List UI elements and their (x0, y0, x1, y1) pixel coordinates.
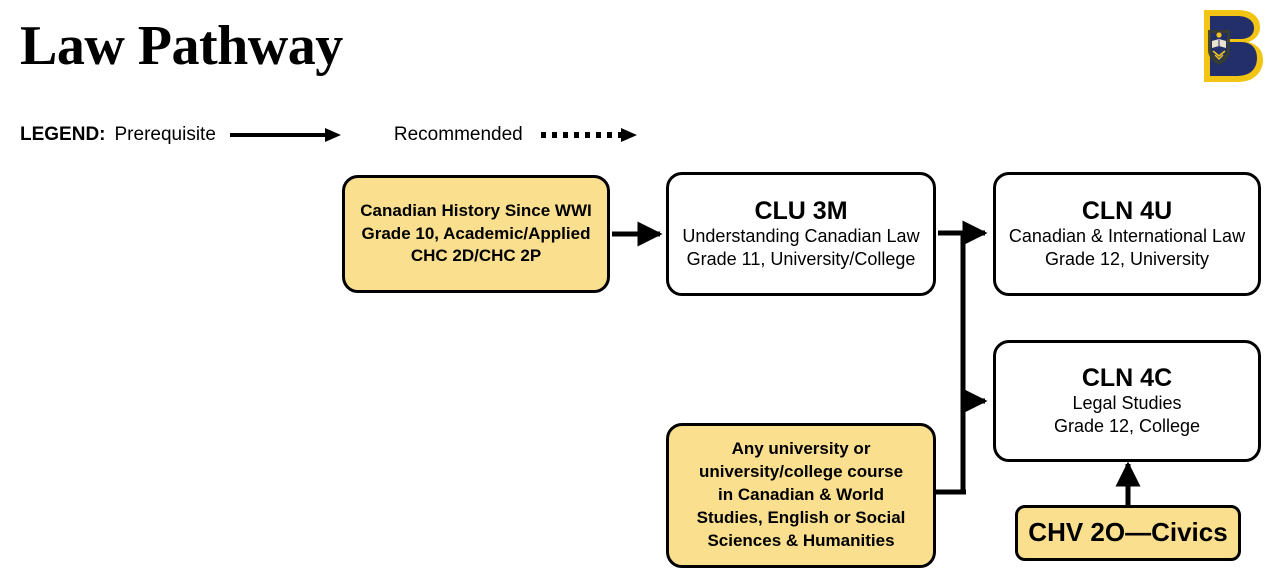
node-chc-line-3: CHC 2D/CHC 2P (411, 245, 541, 268)
law-pathway-diagram: Law Pathway LEGE (0, 0, 1275, 585)
burnaby-b-crest-logo (1194, 6, 1270, 86)
node-anycourse-line-1: Any university or (732, 438, 871, 461)
legend: LEGEND: Prerequisite Recommended (20, 122, 637, 148)
node-clu3m-code: CLU 3M (754, 197, 847, 225)
page-title: Law Pathway (20, 16, 343, 78)
node-chc2d-chc2p[interactable]: Canadian History Since WWI Grade 10, Aca… (342, 175, 610, 293)
node-cln4u-line-2: Grade 12, University (1045, 248, 1209, 271)
legend-recommended-label: Recommended (394, 124, 523, 146)
prerequisite-arrow-icon (230, 127, 342, 143)
node-anycourse-line-2: university/college course (699, 461, 903, 484)
node-anycourse-line-5: Sciences & Humanities (707, 530, 894, 553)
node-any-university-course[interactable]: Any university or university/college cou… (666, 423, 936, 568)
node-cln4c-line-1: Legal Studies (1072, 392, 1181, 415)
node-anycourse-line-4: Studies, English or Social (697, 507, 906, 530)
node-cln4u[interactable]: CLN 4U Canadian & International Law Grad… (993, 172, 1261, 296)
node-chc-line-2: Grade 10, Academic/Applied (362, 223, 591, 246)
node-cln4u-code: CLN 4U (1082, 197, 1172, 225)
node-chv2o-civics[interactable]: CHV 2O—Civics (1015, 505, 1241, 561)
node-cln4c-code: CLN 4C (1082, 364, 1172, 392)
node-chv2o-code: CHV 2O—Civics (1028, 518, 1227, 547)
node-clu3m[interactable]: CLU 3M Understanding Canadian Law Grade … (666, 172, 936, 296)
node-clu3m-line-1: Understanding Canadian Law (682, 225, 919, 248)
node-cln4c[interactable]: CLN 4C Legal Studies Grade 12, College (993, 340, 1261, 462)
legend-prerequisite-label: Prerequisite (115, 124, 216, 146)
node-chc-line-1: Canadian History Since WWI (360, 200, 591, 223)
node-cln4u-line-1: Canadian & International Law (1009, 225, 1245, 248)
recommended-arrow-icon (539, 127, 637, 143)
node-clu3m-line-2: Grade 11, University/College (687, 248, 916, 271)
legend-label: LEGEND: (20, 124, 106, 146)
node-anycourse-line-3: in Canadian & World (718, 484, 884, 507)
node-cln4c-line-2: Grade 12, College (1054, 415, 1200, 438)
